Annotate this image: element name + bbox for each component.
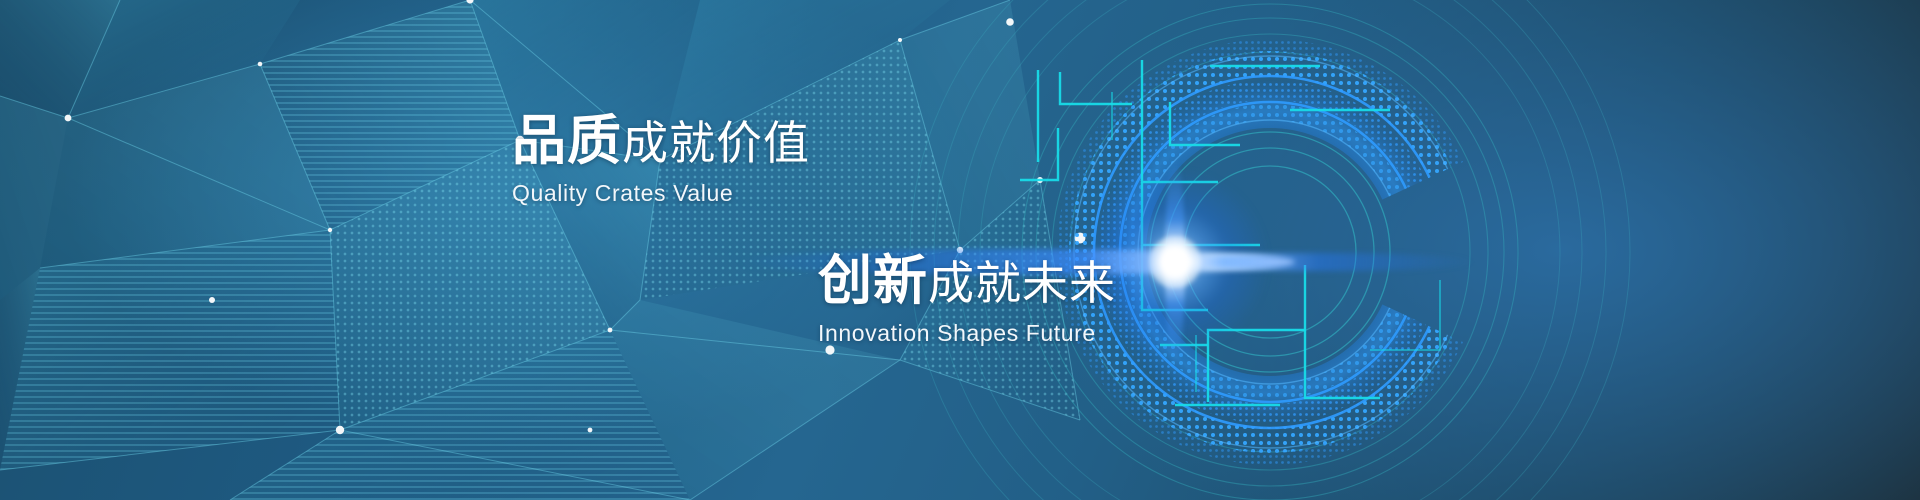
- tech-banner: 品质成就价值 Quality Crates Value 创新成就未来 Innov…: [0, 0, 1920, 500]
- headline-quality-cjk-lead: 品质: [512, 109, 622, 172]
- cyan-circuit-thin-lines: [1112, 92, 1440, 392]
- cyan-circuit-lines: [0, 0, 1920, 500]
- headline-quality-cjk: 品质成就价值: [512, 112, 810, 172]
- headline-innovation-cjk: 创新成就未来: [818, 252, 1116, 312]
- headline-innovation-cjk-tail: 成就未来: [928, 256, 1116, 310]
- headline-quality-cjk-tail: 成就价值: [622, 116, 810, 170]
- headline-innovation-english: Innovation Shapes Future: [818, 318, 1116, 348]
- headline-quality: 品质成就价值 Quality Crates Value: [512, 112, 810, 208]
- headline-innovation-cjk-lead: 创新: [818, 249, 928, 312]
- headline-quality-english: Quality Crates Value: [512, 178, 810, 208]
- headline-innovation: 创新成就未来 Innovation Shapes Future: [818, 252, 1116, 348]
